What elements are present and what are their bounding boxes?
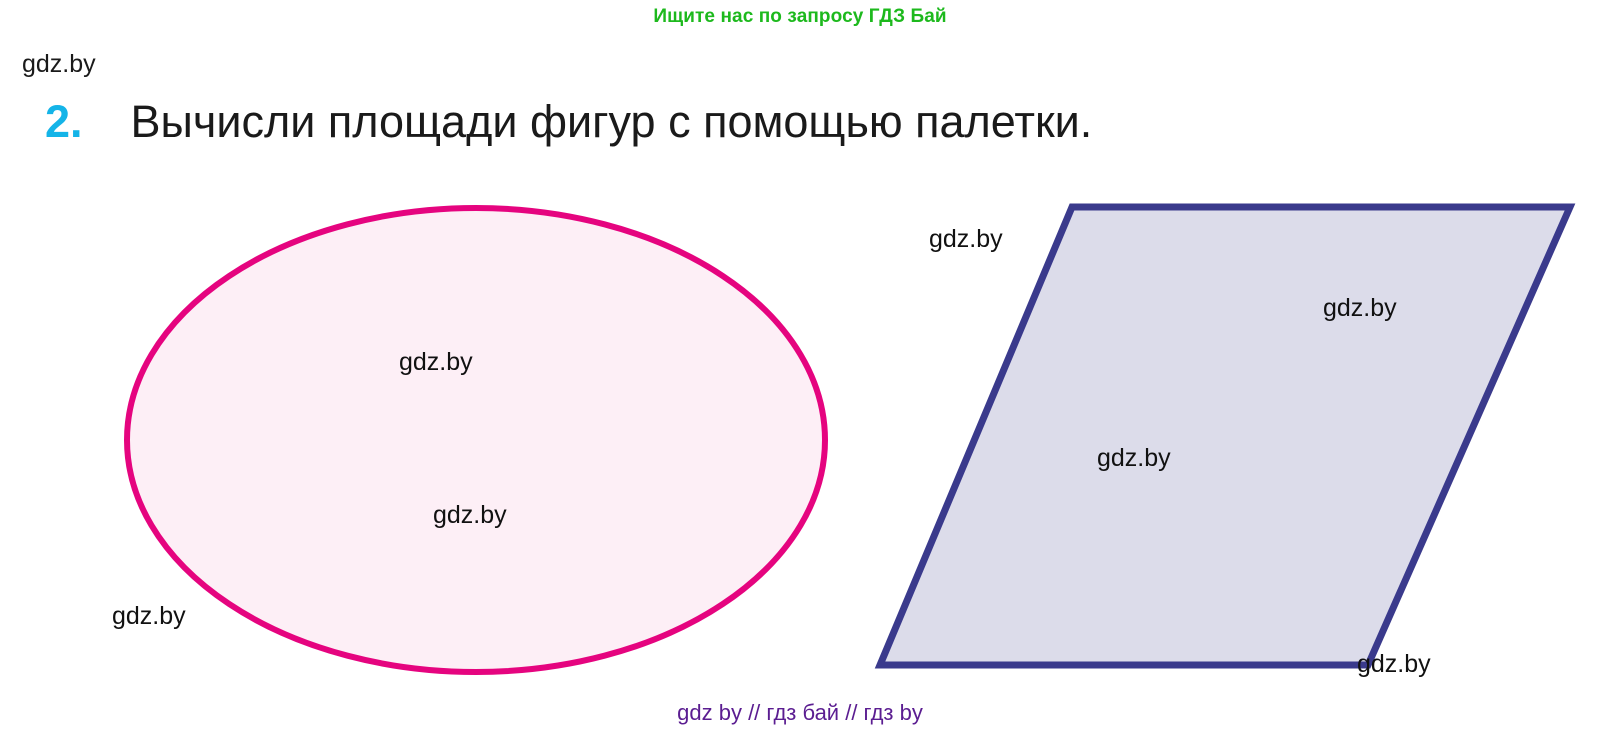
task-instruction-text: Вычисли площади фигур с помощью палетки. (131, 96, 1093, 148)
page-root: Ищите нас по запросу ГДЗ Бай gdz.by 2. В… (0, 0, 1600, 750)
footer-watermark-text: gdz by // гдз бай // гдз by (677, 700, 923, 726)
watermark-ellipse-lower: gdz.by (433, 501, 507, 530)
promo-banner-text: Ищите нас по запросу ГДЗ Бай (653, 6, 946, 28)
watermark-parallelogram-outside-topleft: gdz.by (929, 225, 1003, 254)
task-number: 2. (45, 96, 83, 148)
watermark-ellipse-upper: gdz.by (399, 348, 473, 377)
watermark-parallelogram-upper: gdz.by (1323, 294, 1397, 323)
watermark-ellipse-outside: gdz.by (112, 602, 186, 631)
parallelogram-figure (880, 207, 1570, 665)
watermark-parallelogram-lower: gdz.by (1097, 444, 1171, 473)
task-heading: 2. Вычисли площади фигур с помощью палет… (45, 96, 1092, 148)
header-watermark: gdz.by (22, 50, 96, 79)
watermark-parallelogram-outside-bottomright: gdz.by (1357, 650, 1431, 679)
ellipse-figure (127, 208, 825, 672)
footer-watermark: gdz by // гдз бай // гдз by (0, 700, 1600, 726)
promo-banner: Ищите нас по запросу ГДЗ Бай (0, 0, 1600, 34)
